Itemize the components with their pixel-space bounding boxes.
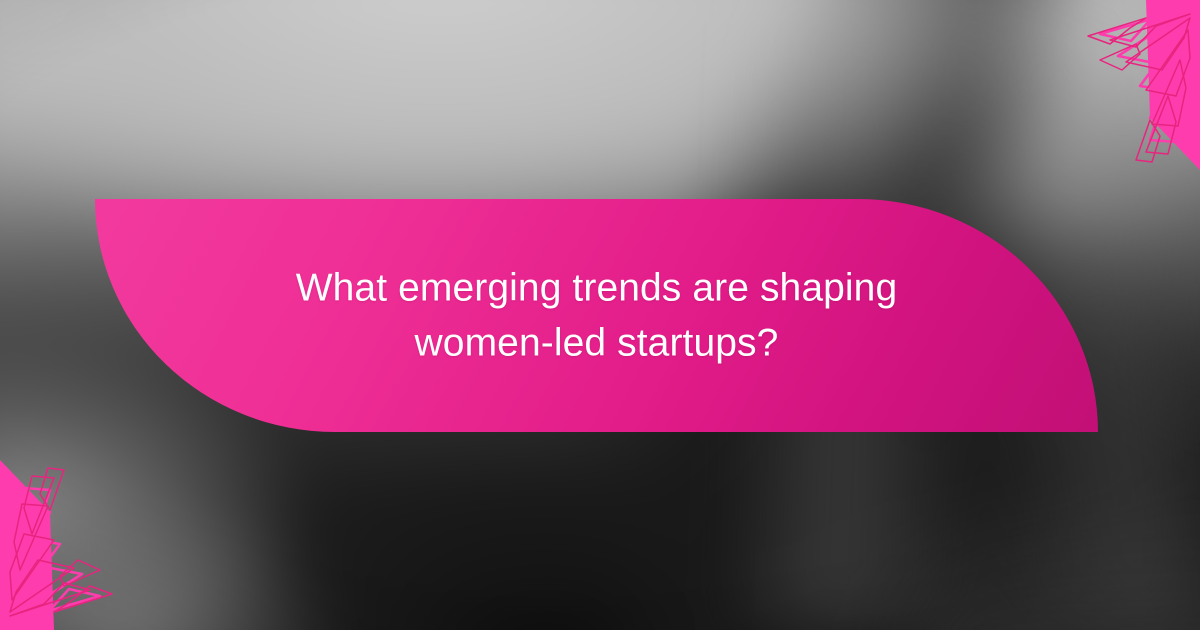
question-banner: What emerging trends are shaping women-l…	[95, 199, 1098, 432]
banner-heading-line-2: women-led startups?	[245, 316, 948, 371]
poster-canvas: What emerging trends are shaping women-l…	[0, 0, 1200, 630]
banner-heading: What emerging trends are shaping women-l…	[95, 260, 1098, 371]
banner-heading-line-1: What emerging trends are shaping	[245, 260, 948, 315]
